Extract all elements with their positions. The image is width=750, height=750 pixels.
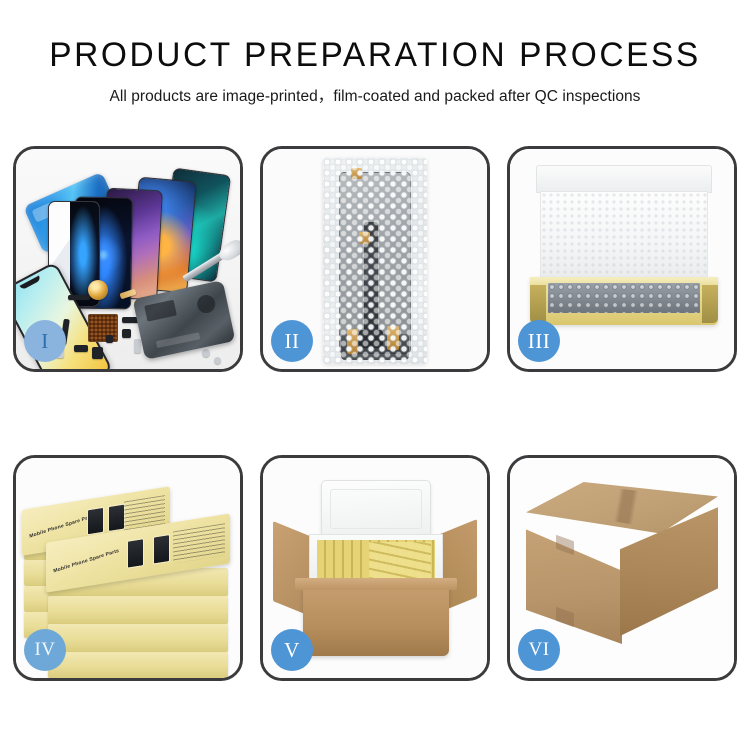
process-step-card-4[interactable]: Mobile Phone Spare Parts Mobile Phone Sp… <box>13 455 243 681</box>
process-step-card-5[interactable]: V <box>260 455 490 681</box>
box-label-text: Mobile Phone Spare Parts <box>53 548 120 575</box>
bubble-texture <box>323 158 427 364</box>
bubble-wrap-bag-icon <box>323 158 427 364</box>
step-badge-5: V <box>271 629 313 671</box>
tray-end-right <box>702 285 718 323</box>
page-title: PRODUCT PREPARATION PROCESS <box>6 38 745 74</box>
small-screw-icon <box>214 357 221 364</box>
housing-camera-icon <box>195 293 216 314</box>
step-badge-3: III <box>518 320 560 362</box>
step-badge-4: IV <box>24 629 66 671</box>
sealed-carton-icon <box>526 482 718 650</box>
flat-kraft-box-icon <box>524 165 722 345</box>
process-step-card-3[interactable]: III <box>507 146 737 372</box>
box-window-icon <box>127 538 144 569</box>
process-step-grid: I II <box>13 146 737 681</box>
small-part-icon <box>68 295 90 300</box>
stacked-box <box>48 652 228 678</box>
step-badge-1: I <box>24 320 66 362</box>
foam-sheet-icon <box>540 191 708 283</box>
stacked-box <box>48 624 228 652</box>
page-subtitle: All products are image-printed，film-coat… <box>0 84 750 106</box>
housing-detail <box>156 332 200 348</box>
carton-left-face <box>526 522 622 644</box>
header: PRODUCT PREPARATION PROCESS All products… <box>0 0 750 106</box>
process-step-card-1[interactable]: I <box>13 146 243 372</box>
chip-grid-icon <box>88 314 118 342</box>
small-screw-icon <box>202 349 210 357</box>
tray-end-left <box>530 285 546 323</box>
copper-coil-icon <box>88 280 108 300</box>
small-part-icon <box>106 335 113 343</box>
step-badge-2: II <box>271 320 313 362</box>
small-part-icon <box>134 339 141 353</box>
box-window-icon <box>87 507 104 535</box>
process-step-card-2[interactable]: II <box>260 146 490 372</box>
small-part-icon <box>74 345 88 352</box>
product-preparation-infographic: PRODUCT PREPARATION PROCESS All products… <box>0 0 750 750</box>
box-window-icon <box>108 504 125 532</box>
small-part-icon <box>92 347 103 359</box>
step-badge-6: VI <box>518 629 560 671</box>
stacked-box <box>48 596 228 624</box>
box-lid-icon <box>536 165 712 193</box>
process-step-card-6[interactable]: VI <box>507 455 737 681</box>
foam-lid-icon <box>321 480 431 538</box>
carton-front-panel <box>303 586 449 656</box>
bubble-wrapped-items-icon <box>548 283 700 313</box>
small-part-icon <box>122 329 131 338</box>
housing-detail <box>144 300 177 322</box>
box-window-icon <box>153 534 170 565</box>
box-spec-lines <box>173 523 225 563</box>
